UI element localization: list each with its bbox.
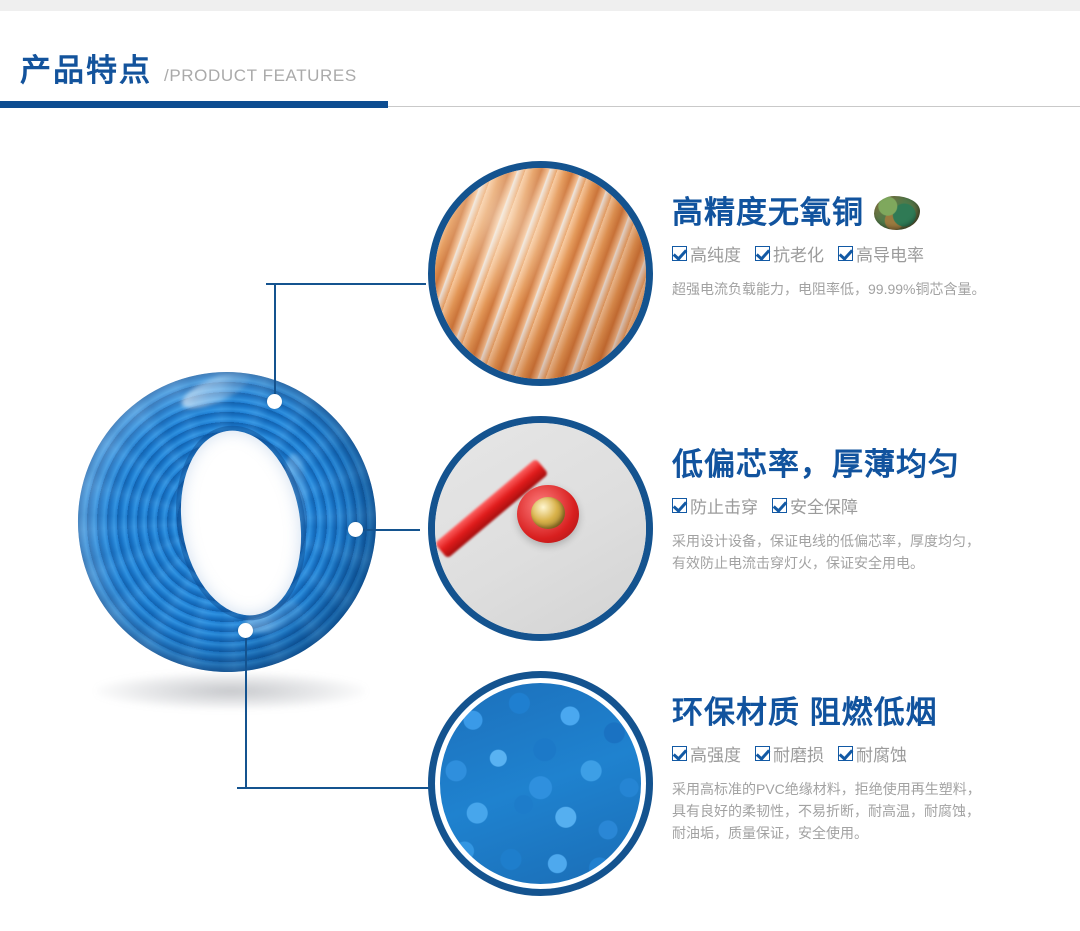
callout-dot-1 <box>267 394 282 409</box>
feature-title-text: 高精度无氧铜 <box>672 196 864 230</box>
feature-description-1: 超强电流负载能力，电阻率低，99.99%铜芯含量。 <box>672 278 985 300</box>
check-icon <box>672 746 687 761</box>
callout-line-3-vertical <box>245 630 247 788</box>
check-item: 防止击穿 <box>672 493 758 518</box>
feature-title-3: 环保材质 阻燃低烟 <box>672 696 981 730</box>
check-icon <box>755 246 770 261</box>
copper-wire-photo <box>435 168 646 379</box>
coil-highlight <box>177 365 254 416</box>
check-item: 高纯度 <box>672 241 741 266</box>
check-icon <box>672 246 687 261</box>
check-icon <box>772 498 787 513</box>
check-label: 安全保障 <box>790 493 858 518</box>
copper-core <box>531 497 565 529</box>
pvc-pellets-photo <box>435 678 646 889</box>
feature-description-2: 采用设计设备，保证电线的低偏芯率，厚度均匀， 有效防止电流击穿灯火，保证安全用电… <box>672 530 980 574</box>
coil-shadow <box>96 672 366 710</box>
check-item: 安全保障 <box>772 493 858 518</box>
check-icon <box>755 746 770 761</box>
feature-title-2: 低偏芯率，厚薄均匀 <box>672 448 980 482</box>
check-icon <box>838 246 853 261</box>
feature-photo-pvc-pellets <box>428 671 653 896</box>
check-icon <box>672 498 687 513</box>
check-label: 高导电率 <box>856 241 924 266</box>
callout-line-1-horizontal <box>266 283 426 285</box>
callout-line-1-vertical <box>274 283 276 398</box>
feature-title-text: 低偏芯率，厚薄均匀 <box>672 448 960 482</box>
check-label: 耐腐蚀 <box>856 741 907 766</box>
check-label: 抗老化 <box>773 241 824 266</box>
feature-block-3: 环保材质 阻燃低烟 高强度 耐磨损 耐腐蚀 采用高标准的PVC绝缘材料，拒绝使用… <box>672 696 981 844</box>
copper-sheen <box>435 168 646 379</box>
wire-coil-image <box>78 372 388 712</box>
feature-title-1: 高精度无氧铜 <box>672 196 985 230</box>
page-title-en: /PRODUCT FEATURES <box>164 67 357 84</box>
feature-checks-1: 高纯度 抗老化 高导电率 <box>672 241 985 266</box>
check-item: 高导电率 <box>838 241 924 266</box>
feature-title-text: 环保材质 阻燃低烟 <box>672 696 938 730</box>
callout-line-3-horizontal <box>237 787 437 789</box>
page-header: 产品特点 /PRODUCT FEATURES <box>20 55 357 86</box>
feature-photo-cross-section <box>428 416 653 641</box>
pellet-field <box>435 678 646 889</box>
check-label: 耐磨损 <box>773 741 824 766</box>
feature-description-3: 采用高标准的PVC绝缘材料，拒绝使用再生塑料， 具有良好的柔韧性，不易折断，耐高… <box>672 778 981 844</box>
check-item: 抗老化 <box>755 241 824 266</box>
callout-dot-3 <box>238 623 253 638</box>
check-label: 防止击穿 <box>690 493 758 518</box>
callout-dot-2 <box>348 522 363 537</box>
feature-block-2: 低偏芯率，厚薄均匀 防止击穿 安全保障 采用设计设备，保证电线的低偏芯率，厚度均… <box>672 448 980 574</box>
header-divider-accent <box>0 101 388 108</box>
check-label: 高强度 <box>690 741 741 766</box>
check-item: 高强度 <box>672 741 741 766</box>
feature-block-1: 高精度无氧铜 高纯度 抗老化 高导电率 超强电流负载能力，电阻率低，99.99%… <box>672 196 985 300</box>
check-label: 高纯度 <box>690 241 741 266</box>
copper-ore-icon <box>874 196 920 230</box>
page-title-cn: 产品特点 <box>20 55 152 86</box>
check-item: 耐磨损 <box>755 741 824 766</box>
check-icon <box>838 746 853 761</box>
callout-line-2-horizontal <box>358 529 420 531</box>
feature-checks-3: 高强度 耐磨损 耐腐蚀 <box>672 741 981 766</box>
product-features-page: 产品特点 /PRODUCT FEATURES 高精度无氧铜 <box>0 0 1080 931</box>
wire-cross-section-photo <box>435 423 646 634</box>
feature-photo-copper-wire <box>428 161 653 386</box>
page-top-strip <box>0 0 1080 11</box>
feature-checks-2: 防止击穿 安全保障 <box>672 493 980 518</box>
check-item: 耐腐蚀 <box>838 741 907 766</box>
